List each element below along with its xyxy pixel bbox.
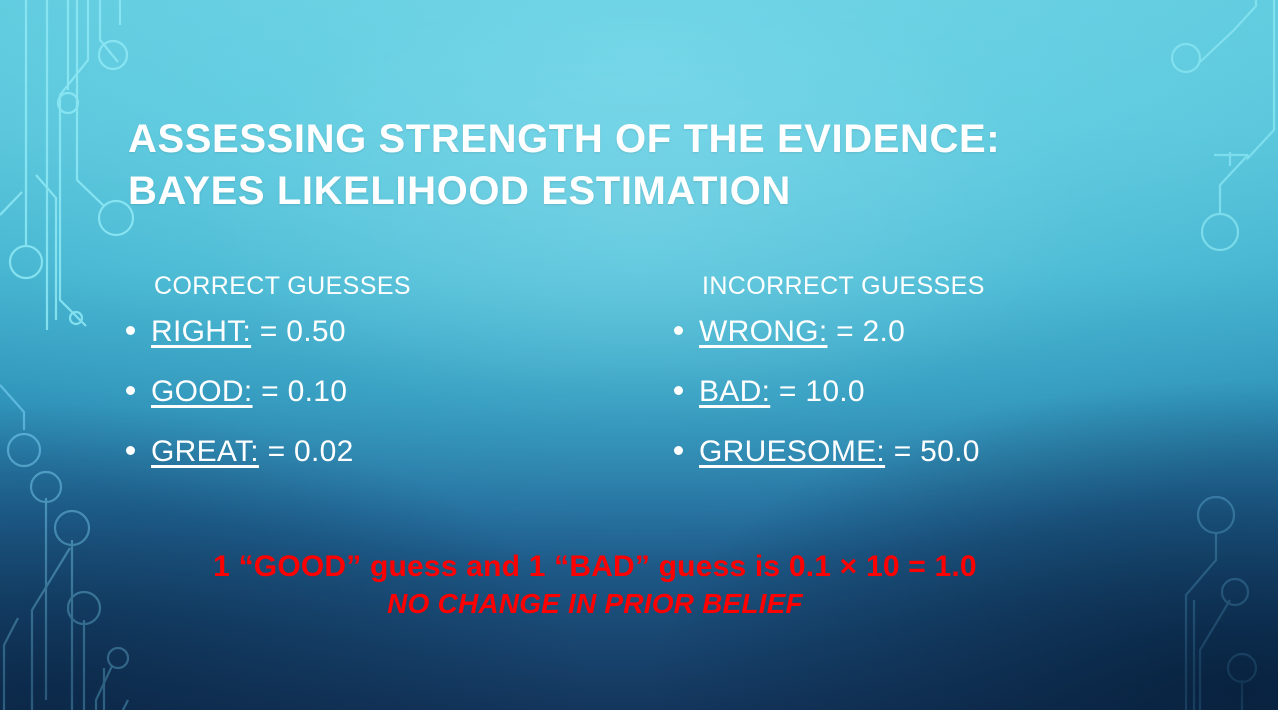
likelihood-entry: GOOD: = 0.10 <box>151 375 347 409</box>
bullet-dot-icon <box>126 326 135 335</box>
likelihood-entry: WRONG: = 2.0 <box>699 315 905 349</box>
slide-title-line-2: Bayes likelihood estimation <box>128 165 1128 217</box>
column-header-correct: Correct guesses <box>154 272 646 301</box>
column-incorrect-guesses: Incorrect guesses WRONG: = 2.0 BAD: = 10… <box>674 272 1194 495</box>
likelihood-term: GOOD: <box>151 375 253 408</box>
likelihood-entry: GREAT: = 0.02 <box>151 435 354 469</box>
list-item: GOOD: = 0.10 <box>126 375 646 409</box>
likelihood-term: GREAT: <box>151 435 259 468</box>
bullet-dot-icon <box>674 326 683 335</box>
list-item: BAD: = 10.0 <box>674 375 1194 409</box>
likelihood-term: WRONG: <box>699 315 827 348</box>
list-item: WRONG: = 2.0 <box>674 315 1194 349</box>
likelihood-entry: BAD: = 10.0 <box>699 375 865 409</box>
likelihood-term: GRUESOME: <box>699 435 885 468</box>
bullet-dot-icon <box>674 386 683 395</box>
likelihood-value: = 50.0 <box>894 435 980 468</box>
bullet-dot-icon <box>126 446 135 455</box>
likelihood-value: = 0.50 <box>260 315 346 348</box>
conclusion-text: 1 “GOOD” guess and 1 “BAD” guess is 0.1 … <box>0 548 1190 622</box>
conclusion-line-1: 1 “GOOD” guess and 1 “BAD” guess is 0.1 … <box>0 548 1190 586</box>
likelihood-entry: RIGHT: = 0.50 <box>151 315 346 349</box>
likelihood-value: = 0.02 <box>268 435 354 468</box>
column-header-incorrect: Incorrect guesses <box>702 272 1194 301</box>
likelihood-term: BAD: <box>699 375 770 408</box>
list-item: GRUESOME: = 50.0 <box>674 435 1194 469</box>
bullet-dot-icon <box>674 446 683 455</box>
slide-content: Assessing strength of the evidence: Baye… <box>0 0 1278 710</box>
slide-title-line-1: Assessing strength of the evidence: <box>128 113 1128 165</box>
presentation-slide: Assessing strength of the evidence: Baye… <box>0 0 1278 710</box>
list-item: RIGHT: = 0.50 <box>126 315 646 349</box>
likelihood-value: = 2.0 <box>836 315 905 348</box>
column-correct-guesses: Correct guesses RIGHT: = 0.50 GOOD: = 0.… <box>126 272 646 495</box>
conclusion-line-2: NO CHANGE IN PRIOR BELIEF <box>0 586 1190 622</box>
likelihood-entry: GRUESOME: = 50.0 <box>699 435 980 469</box>
bullet-dot-icon <box>126 386 135 395</box>
likelihood-term: RIGHT: <box>151 315 251 348</box>
likelihood-value: = 10.0 <box>779 375 865 408</box>
list-item: GREAT: = 0.02 <box>126 435 646 469</box>
slide-title: Assessing strength of the evidence: Baye… <box>128 113 1128 217</box>
likelihood-columns: Correct guesses RIGHT: = 0.50 GOOD: = 0.… <box>0 272 1278 495</box>
likelihood-value: = 0.10 <box>261 375 347 408</box>
